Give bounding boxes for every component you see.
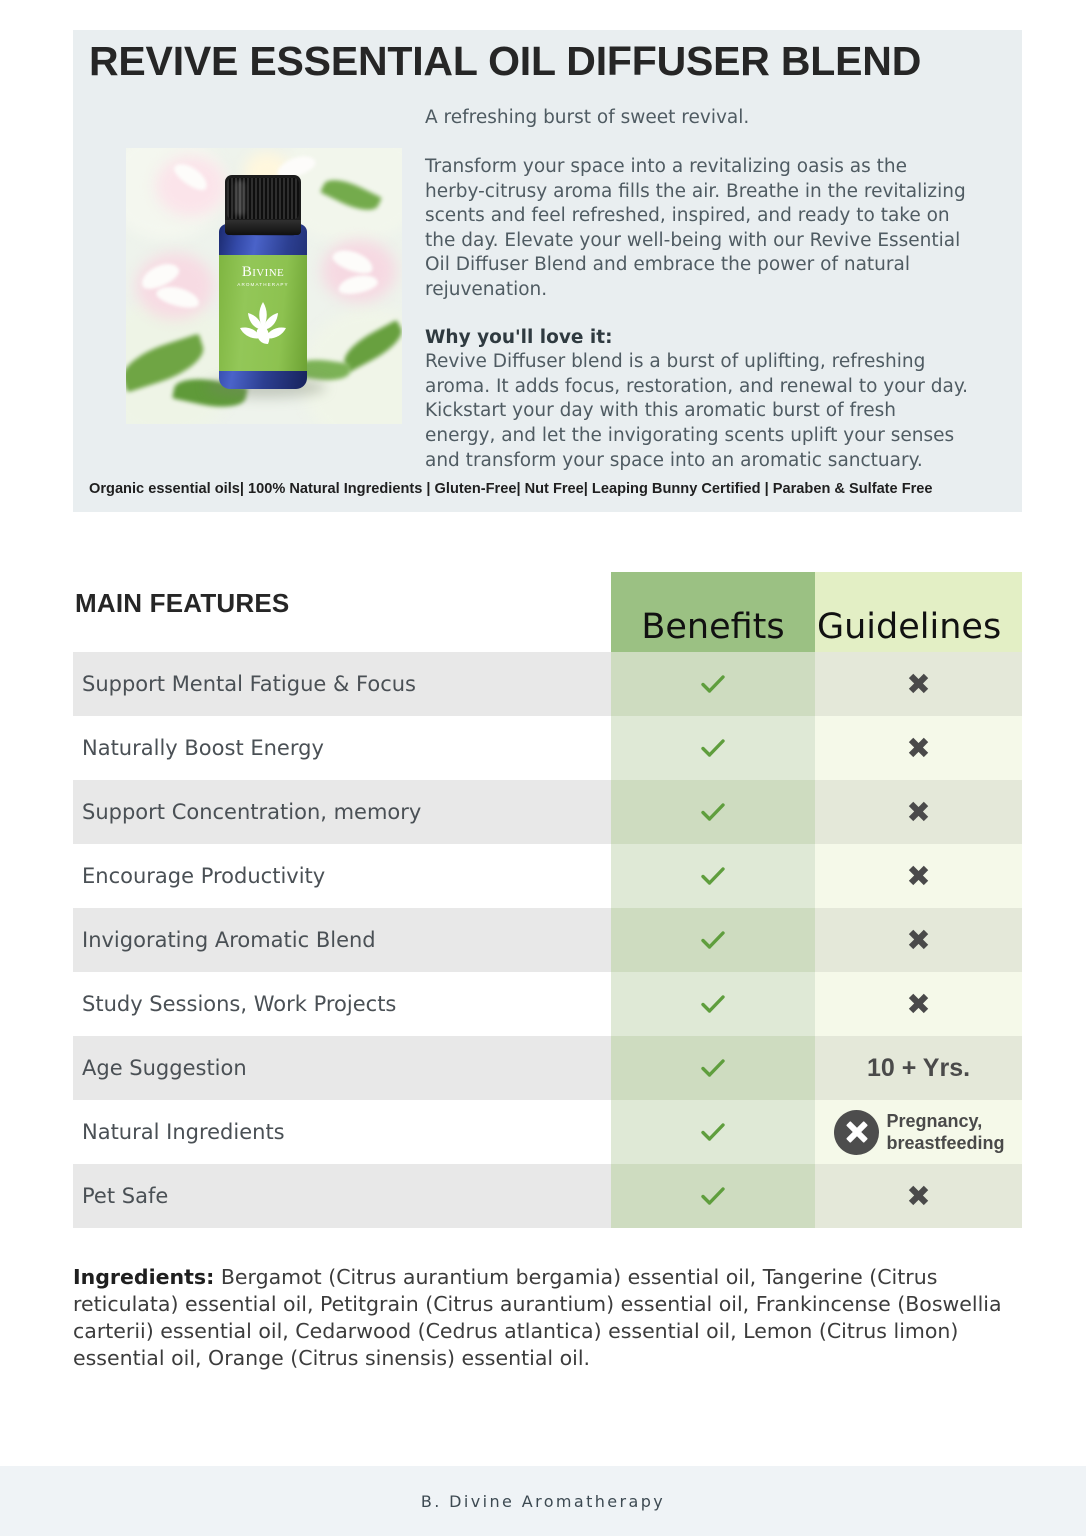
hero-panel: REVIVE ESSENTIAL OIL DIFFUSER BLEND [73, 30, 1022, 512]
bottle-cap [225, 175, 301, 235]
feature-label: Naturally Boost Energy [73, 716, 611, 780]
cap-highlight [235, 180, 245, 216]
pregnancy-warning-text: Pregnancy,breastfeeding [886, 1110, 1004, 1154]
benefit-cell [611, 1164, 815, 1228]
table-header-row: Benefits Guidelines [73, 572, 1022, 652]
benefit-cell [611, 908, 815, 972]
table-row: Encourage Productivity ✖ [73, 844, 1022, 908]
circle-x-icon [834, 1110, 879, 1155]
table-row: Naturally Boost Energy ✖ [73, 716, 1022, 780]
column-header-benefits-label: Benefits [611, 607, 815, 647]
check-icon [700, 927, 726, 953]
certifications-line: Organic essential oils| 100% Natural Ing… [89, 481, 1009, 497]
hero-description: Transform your space into a revitalizing… [425, 155, 970, 473]
feature-label: Encourage Productivity [73, 844, 611, 908]
guideline-cell: ✖ [815, 652, 1022, 716]
guideline-cell: ✖ [815, 844, 1022, 908]
column-header-guidelines: Guidelines [815, 572, 1022, 652]
cap-ring [225, 220, 301, 235]
feature-label: Invigorating Aromatic Blend [73, 908, 611, 972]
why-love-heading: Why you'll love it: [425, 326, 970, 351]
pregnancy-warning: Pregnancy,breastfeeding [832, 1110, 1004, 1155]
brand-name: IVINE [252, 267, 284, 279]
benefit-cell [611, 972, 815, 1036]
benefit-cell [611, 652, 815, 716]
feature-label: Natural Ingredients [73, 1100, 611, 1164]
hero-paragraph: Transform your space into a revitalizing… [425, 155, 970, 303]
check-icon [700, 1183, 726, 1209]
guideline-cell: ✖ [815, 780, 1022, 844]
guideline-cell: Pregnancy,breastfeeding [815, 1100, 1022, 1164]
check-icon [700, 799, 726, 825]
ingredients-label: Ingredients: [73, 1265, 214, 1289]
benefit-cell [611, 844, 815, 908]
feature-label: Pet Safe [73, 1164, 611, 1228]
guideline-cell: 10 + Yrs. [815, 1036, 1022, 1100]
column-header-benefits: Benefits [611, 572, 815, 652]
table-row: Invigorating Aromatic Blend ✖ [73, 908, 1022, 972]
product-image: BIVINE AROMATHERAPY [126, 148, 402, 424]
x-icon: ✖ [906, 798, 930, 827]
table-row: Natural Ingredients Pregnancy,breastfeed… [73, 1100, 1022, 1164]
x-icon: ✖ [906, 862, 930, 891]
benefit-cell [611, 780, 815, 844]
x-icon: ✖ [906, 990, 930, 1019]
hero-tagline: A refreshing burst of sweet revival. [425, 107, 749, 128]
page-title: REVIVE ESSENTIAL OIL DIFFUSER BLEND [89, 38, 1009, 85]
table-row: Support Concentration, memory ✖ [73, 780, 1022, 844]
lotus-logo-icon [237, 297, 289, 349]
why-love-paragraph: Revive Diffuser blend is a burst of upli… [425, 350, 970, 473]
guideline-cell: ✖ [815, 972, 1022, 1036]
table-row: Study Sessions, Work Projects ✖ [73, 972, 1022, 1036]
brand-subtitle: AROMATHERAPY [219, 282, 307, 287]
guideline-cell: ✖ [815, 716, 1022, 780]
check-icon [700, 991, 726, 1017]
x-icon: ✖ [906, 926, 930, 955]
table-row: Support Mental Fatigue & Focus ✖ [73, 652, 1022, 716]
x-icon: ✖ [906, 1182, 930, 1211]
features-table: Benefits Guidelines Support Mental Fatig… [73, 572, 1022, 1228]
check-icon [700, 1055, 726, 1081]
page-footer: B. Divine Aromatherapy [0, 1466, 1086, 1536]
x-icon: ✖ [906, 670, 930, 699]
brand-initial: B [242, 264, 252, 280]
check-icon [700, 735, 726, 761]
table-row: Pet Safe ✖ [73, 1164, 1022, 1228]
age-suggestion-text: 10 + Yrs. [867, 1054, 970, 1083]
check-icon [700, 671, 726, 697]
benefit-cell [611, 716, 815, 780]
footer-brand-text: B. Divine Aromatherapy [0, 1466, 1086, 1536]
check-icon [700, 863, 726, 889]
feature-label: Age Suggestion [73, 1036, 611, 1100]
benefit-cell [611, 1036, 815, 1100]
benefit-cell [611, 1100, 815, 1164]
brand-wordmark: BIVINE [219, 265, 307, 280]
check-icon [700, 1119, 726, 1145]
paragraph-spacer [425, 303, 970, 326]
guideline-cell: ✖ [815, 1164, 1022, 1228]
feature-label: Support Concentration, memory [73, 780, 611, 844]
guideline-cell: ✖ [815, 908, 1022, 972]
table-row: Age Suggestion 10 + Yrs. [73, 1036, 1022, 1100]
feature-label: Study Sessions, Work Projects [73, 972, 611, 1036]
column-header-guidelines-label: Guidelines [817, 607, 1024, 647]
bottle-label: BIVINE AROMATHERAPY [219, 255, 307, 371]
ingredients-block: Ingredients: Bergamot (Citrus aurantium … [73, 1264, 1023, 1372]
x-icon: ✖ [906, 734, 930, 763]
feature-label: Support Mental Fatigue & Focus [73, 652, 611, 716]
